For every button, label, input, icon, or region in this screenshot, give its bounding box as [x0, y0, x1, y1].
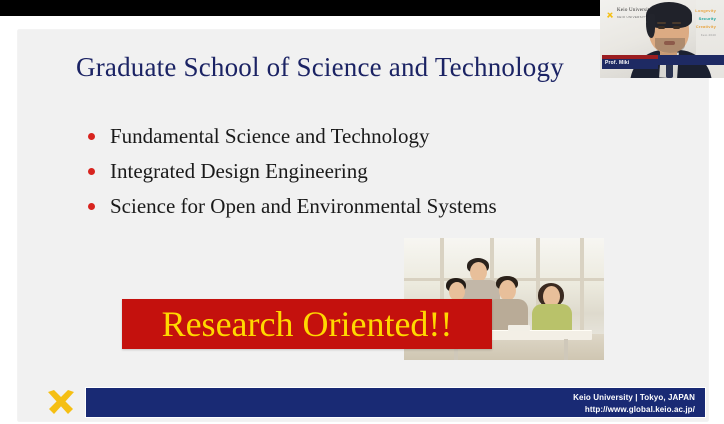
bullet-label: Integrated Design Engineering [110, 159, 368, 183]
footer-url[interactable]: http://www.global.keio.ac.jp/ [573, 404, 695, 416]
footer-text-block: Keio University | Tokyo, JAPAN http://ww… [573, 392, 695, 415]
video-lower-third-band [658, 55, 724, 65]
keio-logo-icon [606, 7, 614, 15]
speaker-mouth [664, 41, 675, 45]
speaker-eyebrow [657, 22, 666, 24]
video-bg-keyword-subtitle: Keio 2040 [701, 33, 716, 37]
slide-bullet-list: Fundamental Science and Technology Integ… [80, 122, 660, 227]
speaker-name-label: Prof. Miki [605, 60, 630, 66]
bullet-dot-icon [88, 203, 95, 210]
bullet-label: Science for Open and Environmental Syste… [110, 194, 497, 218]
speaker-eyebrow [672, 22, 681, 24]
presentation-slide[interactable]: Graduate School of Science and Technolog… [18, 30, 708, 421]
bullet-dot-icon [88, 168, 95, 175]
keio-crossed-pens-logo [41, 387, 81, 417]
list-item: Integrated Design Engineering [80, 157, 660, 186]
video-bg-keyword-longevity: Longevity [695, 8, 716, 13]
video-bg-keyword-security: Security [699, 16, 716, 21]
footer-institution: Keio University | Tokyo, JAPAN [573, 392, 695, 404]
video-bg-logo-subtitle: KEIO UNIVERSITY [617, 15, 648, 19]
video-bg-keyword-creativity: Creativity [696, 24, 716, 29]
slide-footer-bar: Keio University | Tokyo, JAPAN http://ww… [85, 387, 706, 418]
list-item: Science for Open and Environmental Syste… [80, 192, 660, 221]
screen-root: Graduate School of Science and Technolog… [0, 0, 724, 424]
photo-person-head [470, 262, 487, 282]
bullet-dot-icon [88, 133, 95, 140]
speaker-hair-side [646, 14, 655, 38]
bullet-label: Fundamental Science and Technology [110, 124, 429, 148]
speaker-eye [658, 26, 665, 29]
photo-person-head [499, 280, 516, 301]
photo-table-leg [564, 339, 568, 360]
photo-notebook [508, 325, 530, 331]
list-item: Fundamental Science and Technology [80, 122, 660, 151]
banner-text: Research Oriented!! [162, 306, 453, 342]
speaker-video-tile[interactable]: Keio University KEIO UNIVERSITY Longevit… [600, 0, 724, 78]
video-nameplate-accent [602, 55, 658, 59]
speaker-eye [673, 26, 680, 29]
research-oriented-banner: Research Oriented!! [122, 299, 492, 349]
